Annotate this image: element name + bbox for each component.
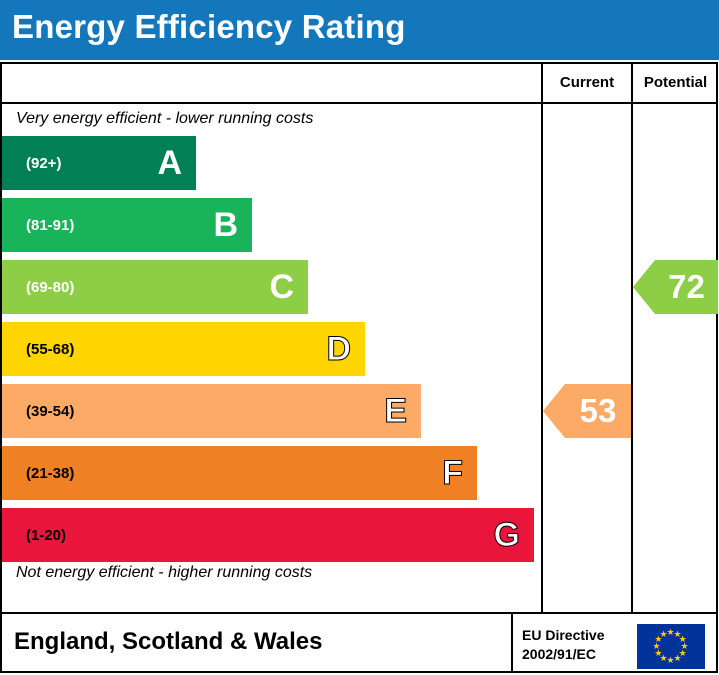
band-range-g: (1-20) bbox=[26, 527, 66, 544]
eu-star-icon: ★ bbox=[667, 656, 675, 665]
potential-rating-marker-value: 72 bbox=[668, 268, 705, 306]
band-b: (81-91)B bbox=[2, 198, 252, 252]
current-rating-marker: 53 bbox=[565, 384, 631, 438]
eu-directive-line2: 2002/91/EC bbox=[522, 646, 596, 662]
band-letter-e: E bbox=[384, 394, 407, 428]
band-letter-b: B bbox=[213, 208, 238, 242]
bands-area: Very energy efficient - lower running co… bbox=[2, 102, 542, 612]
epc-chart: Energy Efficiency Rating Current Potenti… bbox=[0, 0, 719, 675]
footer-divider bbox=[511, 614, 513, 673]
eu-directive-line1: EU Directive bbox=[522, 627, 604, 643]
band-e: (39-54)E bbox=[2, 384, 421, 438]
potential-rating-marker-arrow bbox=[633, 260, 655, 314]
band-range-e: (39-54) bbox=[26, 403, 74, 420]
chart-footer: England, Scotland & Wales EU Directive 2… bbox=[0, 614, 718, 673]
current-rating-marker-arrow bbox=[543, 384, 565, 438]
band-letter-g: G bbox=[494, 518, 520, 552]
eu-directive-text: EU Directive 2002/91/EC bbox=[522, 626, 604, 664]
band-range-f: (21-38) bbox=[26, 465, 74, 482]
inefficient-note: Not energy efficient - higher running co… bbox=[16, 564, 312, 582]
column-header-row: Current Potential bbox=[0, 62, 718, 102]
band-range-c: (69-80) bbox=[26, 279, 74, 296]
eu-star-icon: ★ bbox=[660, 630, 668, 639]
efficient-note: Very energy efficient - lower running co… bbox=[16, 110, 313, 128]
band-range-d: (55-68) bbox=[26, 341, 74, 358]
band-d: (55-68)D bbox=[2, 322, 365, 376]
band-a: (92+)A bbox=[2, 136, 196, 190]
chart-header: Energy Efficiency Rating bbox=[0, 0, 719, 60]
potential-column-divider bbox=[631, 62, 633, 614]
eu-star-icon: ★ bbox=[674, 654, 682, 663]
band-f: (21-38)F bbox=[2, 446, 477, 500]
band-range-a: (92+) bbox=[26, 155, 61, 172]
band-letter-f: F bbox=[442, 456, 463, 490]
current-rating-marker-value: 53 bbox=[580, 392, 617, 430]
band-letter-a: A bbox=[157, 146, 182, 180]
column-header-current: Current bbox=[543, 62, 631, 102]
potential-rating-marker: 72 bbox=[655, 260, 718, 314]
band-letter-d: D bbox=[326, 332, 351, 366]
eu-flag-icon: ★★★★★★★★★★★★ bbox=[637, 624, 705, 669]
band-c: (69-80)C bbox=[2, 260, 308, 314]
band-range-b: (81-91) bbox=[26, 217, 74, 234]
column-header-potential: Potential bbox=[633, 62, 718, 102]
region-label: England, Scotland & Wales bbox=[14, 628, 322, 656]
band-g: (1-20)G bbox=[2, 508, 534, 562]
band-letter-c: C bbox=[269, 270, 294, 304]
page-title: Energy Efficiency Rating bbox=[12, 8, 406, 46]
